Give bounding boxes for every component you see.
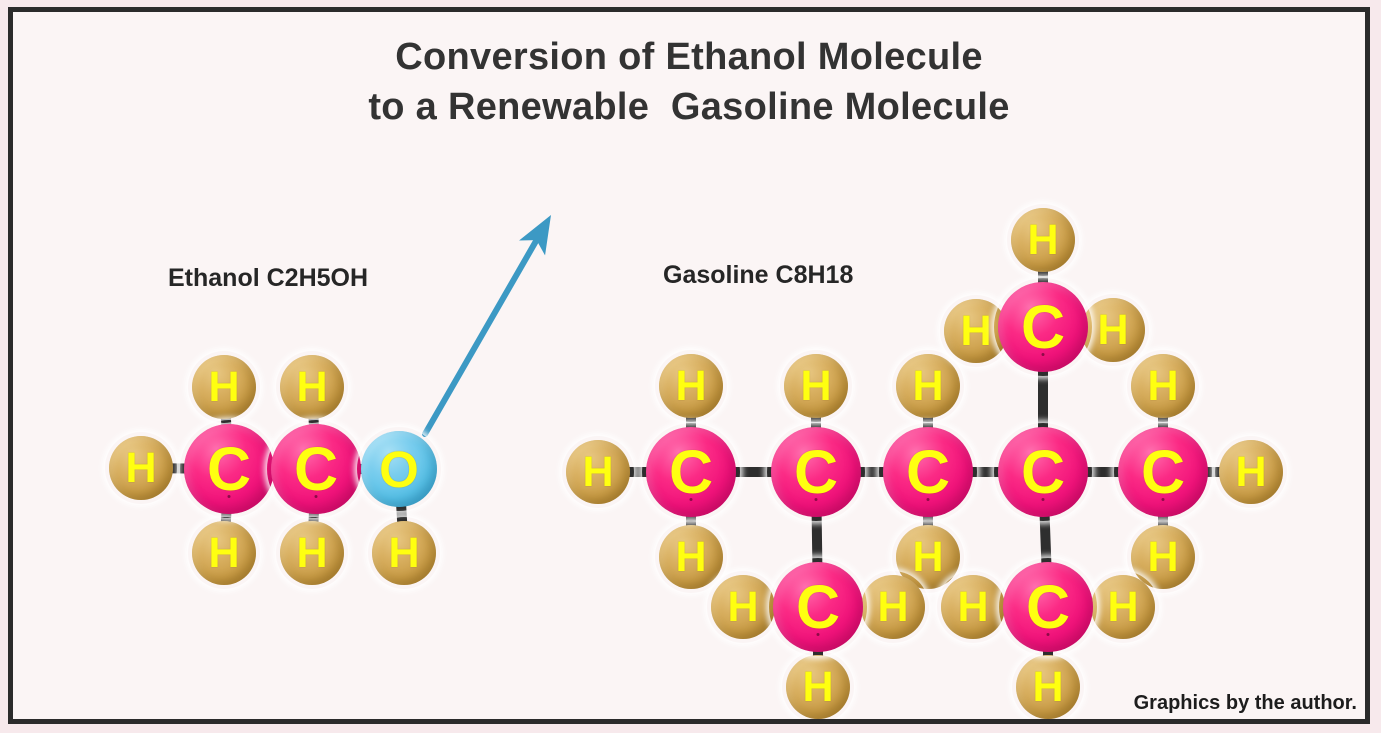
atom-symbol: H (1147, 362, 1178, 411)
atom-carbon: C (773, 562, 863, 652)
atom-hydrogen: H (1091, 575, 1155, 639)
atom-symbol: H (125, 444, 156, 493)
atom-symbol: H (1027, 216, 1058, 265)
atom-hydrogen: H (1131, 354, 1195, 418)
atom-hydrogen: H (896, 354, 960, 418)
arrow-shaft (425, 239, 537, 434)
atom-highlight-dot (315, 495, 318, 498)
atom-hydrogen: H (1219, 440, 1283, 504)
arrow-head (519, 215, 551, 255)
atom-hydrogen: H (280, 355, 344, 419)
atom-hydrogen: H (659, 525, 723, 589)
diagram-frame: Conversion of Ethanol Molecule to a Rene… (8, 7, 1370, 724)
atom-symbol: H (800, 362, 831, 411)
atom-carbon: C (646, 427, 736, 517)
atom-highlight-dot (817, 633, 820, 636)
atom-symbol: H (1032, 663, 1063, 712)
atom-symbol: C (1141, 437, 1185, 507)
atom-hydrogen: H (941, 575, 1005, 639)
atom-hydrogen: H (1016, 655, 1080, 719)
atom-symbol: H (675, 362, 706, 411)
atom-carbon: C (1118, 427, 1208, 517)
atom-carbon: C (184, 424, 274, 514)
atom-carbon: C (998, 282, 1088, 372)
atom-symbol: H (1097, 306, 1128, 355)
atom-highlight-dot (1042, 353, 1045, 356)
atom-symbol: H (208, 363, 239, 412)
atom-symbol: H (296, 363, 327, 412)
atom-symbol: H (388, 529, 419, 578)
atom-symbol: H (1107, 583, 1138, 632)
atom-symbol: O (379, 440, 419, 499)
atom-carbon: C (883, 427, 973, 517)
diagram-canvas: Conversion of Ethanol Molecule to a Rene… (13, 12, 1365, 719)
atom-oxygen: O (361, 431, 437, 507)
atom-symbol: H (296, 529, 327, 578)
atom-highlight-dot (815, 498, 818, 501)
atom-hydrogen: H (109, 436, 173, 500)
atom-symbol: C (1021, 292, 1065, 362)
atom-hydrogen: H (861, 575, 925, 639)
atom-symbol: C (294, 434, 338, 504)
atom-symbol: H (960, 307, 991, 356)
atom-symbol: C (796, 572, 840, 642)
credit-text: Graphics by the author. (1134, 692, 1357, 715)
atom-hydrogen: H (372, 521, 436, 585)
atom-hydrogen: H (659, 354, 723, 418)
atom-symbol: H (727, 583, 758, 632)
atom-highlight-dot (228, 495, 231, 498)
atom-symbol: H (675, 533, 706, 582)
atom-hydrogen: H (1011, 208, 1075, 272)
atom-carbon: C (998, 427, 1088, 517)
atom-hydrogen: H (192, 521, 256, 585)
atom-symbol: H (1147, 533, 1178, 582)
atom-highlight-dot (927, 498, 930, 501)
atom-highlight-dot (1042, 498, 1045, 501)
atom-symbol: C (906, 437, 950, 507)
atom-carbon: C (271, 424, 361, 514)
atom-symbol: C (1021, 437, 1065, 507)
atom-symbol: H (912, 362, 943, 411)
atom-symbol: H (1235, 448, 1266, 497)
atom-symbol: H (582, 448, 613, 497)
atom-carbon: C (1003, 562, 1093, 652)
atom-symbol: H (208, 529, 239, 578)
atom-highlight-dot (1047, 633, 1050, 636)
atom-symbol: C (1026, 572, 1070, 642)
atom-hydrogen: H (192, 355, 256, 419)
atom-symbol: C (207, 434, 251, 504)
atom-carbon: C (771, 427, 861, 517)
atom-symbol: H (802, 663, 833, 712)
atom-symbol: H (957, 583, 988, 632)
atom-hydrogen: H (566, 440, 630, 504)
atom-symbol: C (669, 437, 713, 507)
atom-highlight-dot (690, 498, 693, 501)
atom-highlight-dot (1162, 498, 1165, 501)
atom-hydrogen: H (711, 575, 775, 639)
atom-hydrogen: H (784, 354, 848, 418)
atom-symbol: H (877, 583, 908, 632)
atom-hydrogen: H (786, 655, 850, 719)
atom-hydrogen: H (280, 521, 344, 585)
atom-symbol: C (794, 437, 838, 507)
atom-symbol: H (912, 533, 943, 582)
